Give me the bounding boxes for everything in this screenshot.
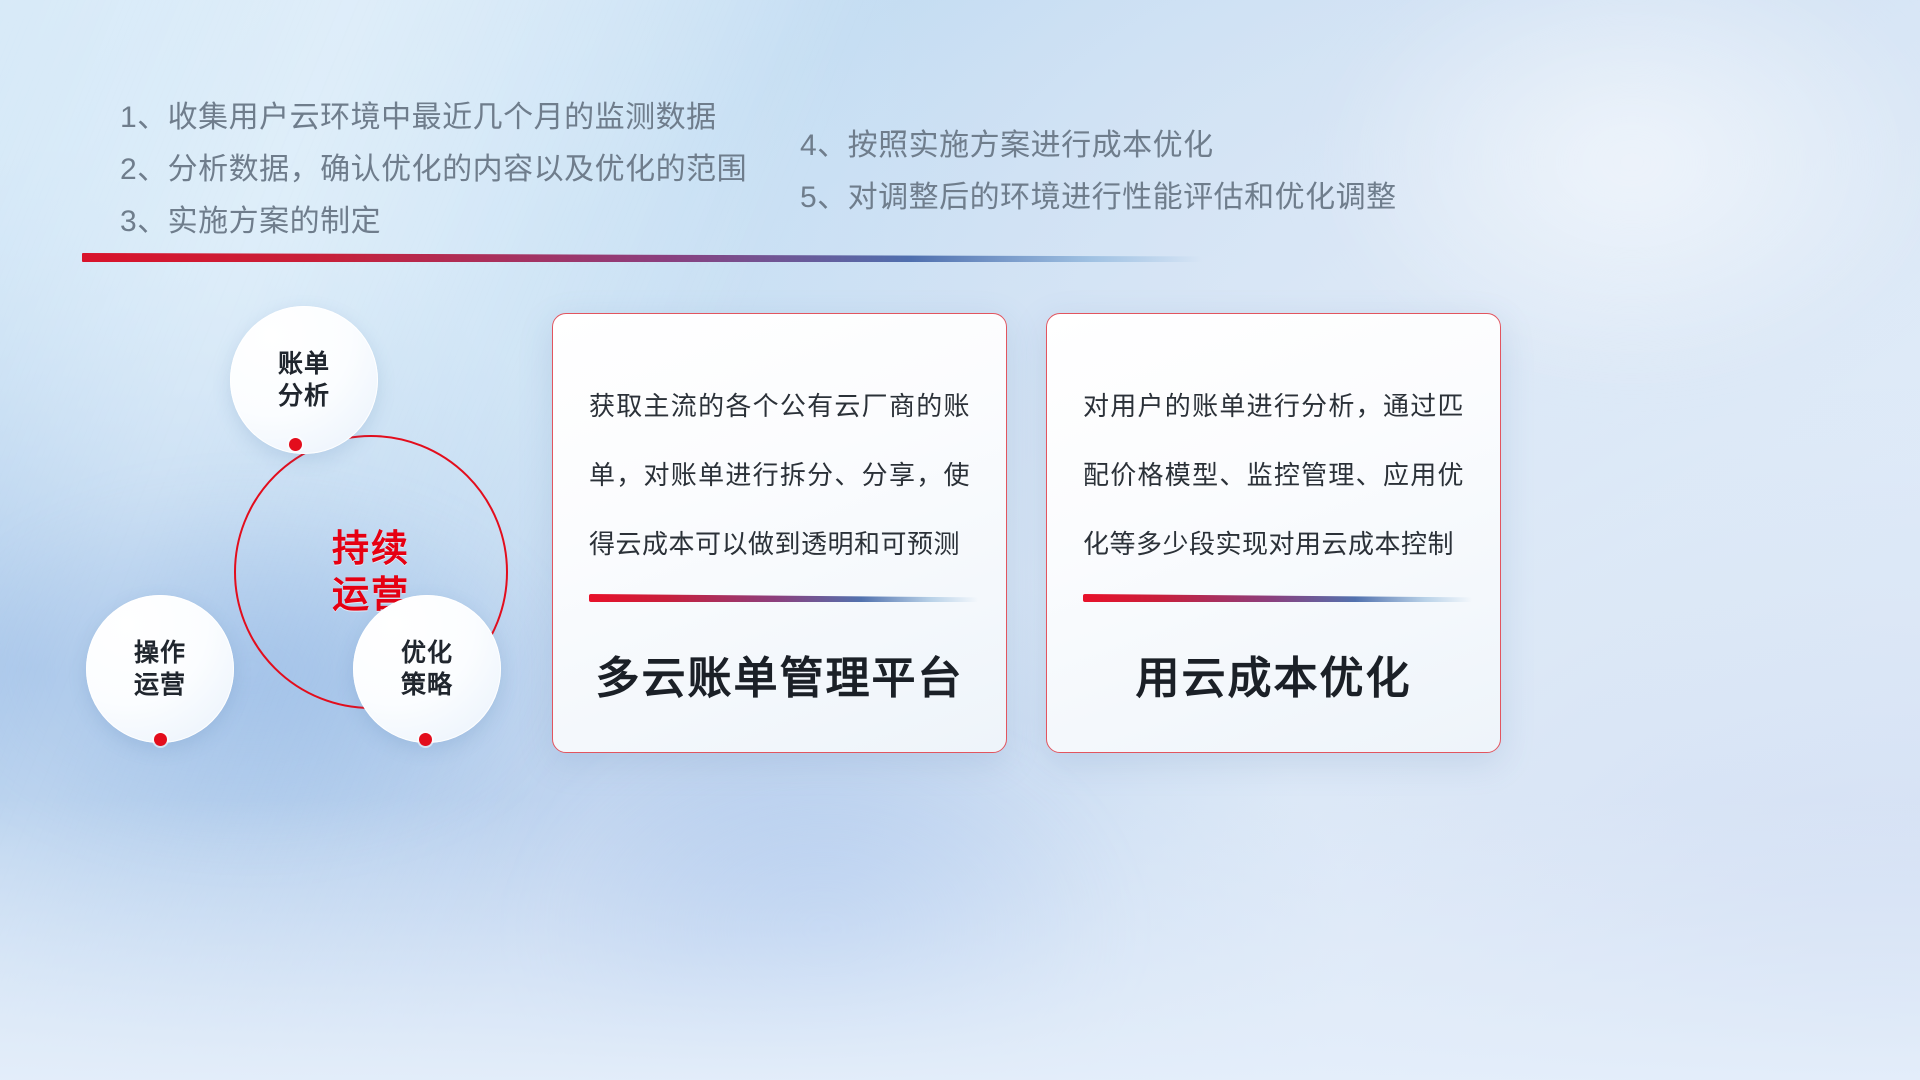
background-bottom-fade <box>0 799 1920 1080</box>
steps-list-right: 4、按照实施方案进行成本优化 5、对调整后的环境进行性能评估和优化调整 <box>800 120 1560 224</box>
feature-card-cost-optimization[interactable]: 对用户的账单进行分析，通过匹配价格模型、监控管理、应用优化等多少段实现对用云成本… <box>1046 313 1501 753</box>
feature-card-body: 对用户的账单进行分析，通过匹配价格模型、监控管理、应用优化等多少段实现对用云成本… <box>1083 372 1464 579</box>
venn-node-bottom-left-line1: 操作 <box>134 637 186 669</box>
venn-node-bottom-left[interactable]: 操作 运营 <box>86 595 234 743</box>
step-item-5: 5、对调整后的环境进行性能评估和优化调整 <box>800 172 1560 224</box>
venn-diagram: 持续 运营 账单 分析 操作 运营 优化 策略 <box>78 290 548 770</box>
venn-connector-dot-bottom-left <box>154 733 167 746</box>
venn-node-bottom-left-line2: 运营 <box>134 669 186 701</box>
divider-gradient-bar <box>82 253 1202 262</box>
step-item-1: 1、收集用户云环境中最近几个月的监测数据 <box>120 92 820 144</box>
venn-connector-dot-bottom-right <box>419 733 432 746</box>
venn-node-top-line1: 账单 <box>278 348 330 380</box>
venn-node-bottom-right-line2: 策略 <box>401 669 453 701</box>
venn-node-top[interactable]: 账单 分析 <box>230 306 378 454</box>
feature-card-body: 获取主流的各个公有云厂商的账单，对账单进行拆分、分享，使得云成本可以做到透明和可… <box>589 372 970 579</box>
venn-center-label-line1: 持续 <box>332 526 410 572</box>
feature-card-rule <box>1083 594 1472 602</box>
feature-card-title: 用云成本优化 <box>1047 642 1500 706</box>
venn-node-top-line2: 分析 <box>278 380 330 412</box>
venn-connector-dot-top <box>289 438 302 451</box>
venn-node-bottom-right[interactable]: 优化 策略 <box>353 595 501 743</box>
feature-card-billing-platform[interactable]: 获取主流的各个公有云厂商的账单，对账单进行拆分、分享，使得云成本可以做到透明和可… <box>552 313 1007 753</box>
steps-list-left: 1、收集用户云环境中最近几个月的监测数据 2、分析数据，确认优化的内容以及优化的… <box>120 92 820 248</box>
step-item-4: 4、按照实施方案进行成本优化 <box>800 120 1560 172</box>
feature-card-rule <box>589 594 978 602</box>
step-item-2: 2、分析数据，确认优化的内容以及优化的范围 <box>120 144 820 196</box>
step-item-3: 3、实施方案的制定 <box>120 196 820 248</box>
section-divider <box>82 253 1202 262</box>
venn-node-bottom-right-line1: 优化 <box>401 637 453 669</box>
feature-card-title: 多云账单管理平台 <box>553 642 1006 706</box>
